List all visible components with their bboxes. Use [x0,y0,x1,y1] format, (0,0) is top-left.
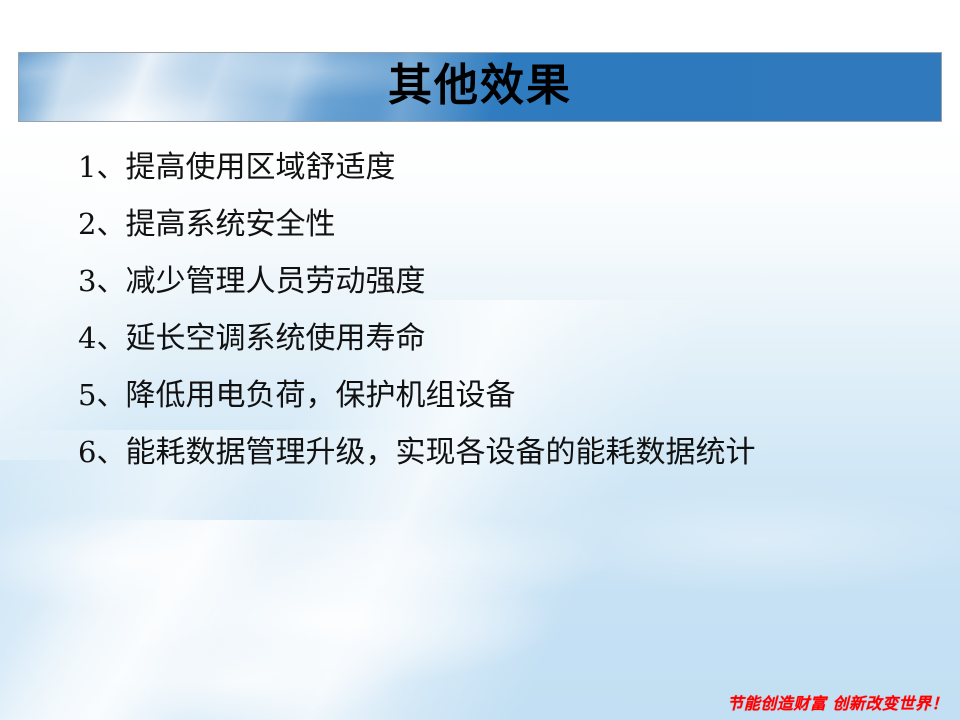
list-item-number: 1、 [78,148,125,186]
list-item: 6、 能耗数据管理升级，实现各设备的能耗数据统计 [78,433,918,490]
title-banner: 其他效果 [18,52,942,122]
list-item-number: 3、 [78,262,125,300]
list-item: 4、 延长空调系统使用寿命 [78,319,918,376]
page-title: 其他效果 [19,53,941,121]
list-item-number: 2、 [78,205,125,243]
list-item-label: 提高使用区域舒适度 [125,149,395,187]
list-item: 3、 减少管理人员劳动强度 [78,262,918,319]
list-item-label: 提高系统安全性 [125,206,335,244]
footer-slogan: 节能创造财富 创新改变世界！ [727,690,948,714]
list-item-label: 降低用电负荷，保护机组设备 [125,377,515,415]
list-item: 5、 降低用电负荷，保护机组设备 [78,376,918,433]
list-item-label: 减少管理人员劳动强度 [125,263,425,301]
list-item-number: 6、 [78,433,125,471]
list-item-number: 4、 [78,319,125,357]
list-item-label: 能耗数据管理升级，实现各设备的能耗数据统计 [125,434,755,472]
list-item: 1、 提高使用区域舒适度 [78,148,918,205]
list-item-number: 5、 [78,376,125,414]
presentation-slide: 其他效果 1、 提高使用区域舒适度 2、 提高系统安全性 3、 减少管理人员劳动… [0,0,960,720]
list-item: 2、 提高系统安全性 [78,205,918,262]
list-item-label: 延长空调系统使用寿命 [125,320,425,358]
bullet-list: 1、 提高使用区域舒适度 2、 提高系统安全性 3、 减少管理人员劳动强度 4、… [78,148,918,490]
